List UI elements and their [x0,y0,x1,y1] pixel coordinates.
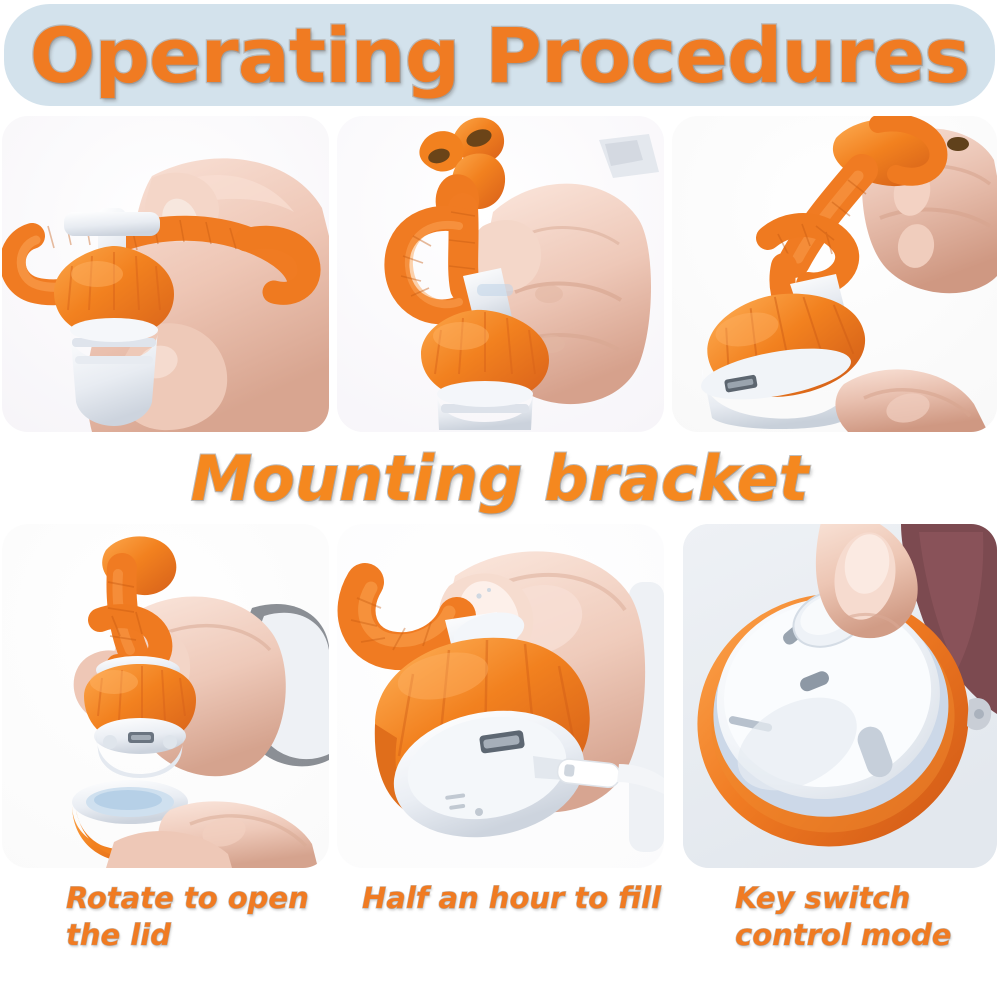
illustration-pressing-key-switch [683,524,997,868]
caption-line-2: the lid [66,918,171,952]
illustration-usb-charging-device [337,524,664,868]
caption-line-2: control mode [735,918,951,952]
caption-line-1: Key switch [735,881,910,915]
illustration-hand-tying-rope-knot [337,116,664,432]
photo-panel-hand-holding-device-with-rope-loop [2,116,329,432]
photo-panel-device-suspended-by-rope [672,116,997,432]
photo-panel-hand-tying-rope-knot [337,116,664,432]
photo-panel-usb-charging-device [337,524,664,868]
caption-half-an-hour-to-fill: Half an hour to fill [362,880,662,917]
caption-line-1: Half an hour to fill [362,881,661,915]
illustration-hand-holding-device-with-rope-loop [2,116,329,432]
caption-line-1: Rotate to open [66,881,309,915]
page-title: Operating Procedures [0,4,999,106]
photo-panel-rotate-lid-open [2,524,329,868]
header-banner: Operating Procedures [4,4,995,106]
photo-panel-pressing-key-switch [683,524,997,868]
caption-rotate-to-open-the-lid: Rotate to open the lid [66,880,336,954]
caption-key-switch-control-mode: Key switch control mode [735,880,995,954]
section-heading-mounting-bracket: Mounting bracket [0,440,999,516]
illustration-rotate-lid-open [2,524,329,868]
illustration-device-suspended-by-rope [672,116,997,432]
